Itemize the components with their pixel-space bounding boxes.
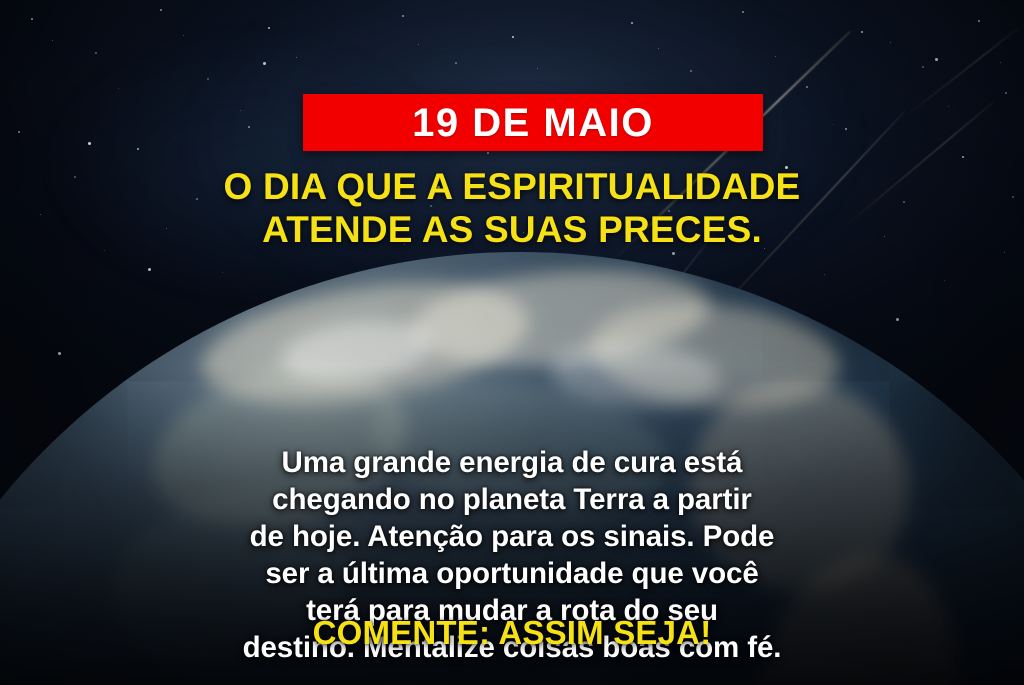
date-banner-text: 19 DE MAIO: [412, 103, 654, 143]
body-line-1: Uma grande energia de cura está: [62, 444, 962, 481]
headline-line-1: O DIA QUE A ESPIRITUALIDADE: [52, 166, 972, 209]
body-line-3: de hoje. Atenção para os sinais. Pode: [62, 518, 962, 555]
text-overlay: 19 DE MAIO O DIA QUE A ESPIRITUALIDADE A…: [0, 0, 1024, 685]
poster-image: 19 DE MAIO O DIA QUE A ESPIRITUALIDADE A…: [0, 0, 1024, 685]
date-banner: 19 DE MAIO: [303, 94, 763, 151]
headline: O DIA QUE A ESPIRITUALIDADE ATENDE AS SU…: [0, 166, 1024, 252]
body-line-2: chegando no planeta Terra a partir: [62, 481, 962, 518]
call-to-action-text: COMENTE: ASSIM SEJA!: [0, 615, 1024, 651]
headline-line-2: ATENDE AS SUAS PRECES.: [52, 209, 972, 252]
body-line-4: ser a última oportunidade que você: [62, 555, 962, 592]
